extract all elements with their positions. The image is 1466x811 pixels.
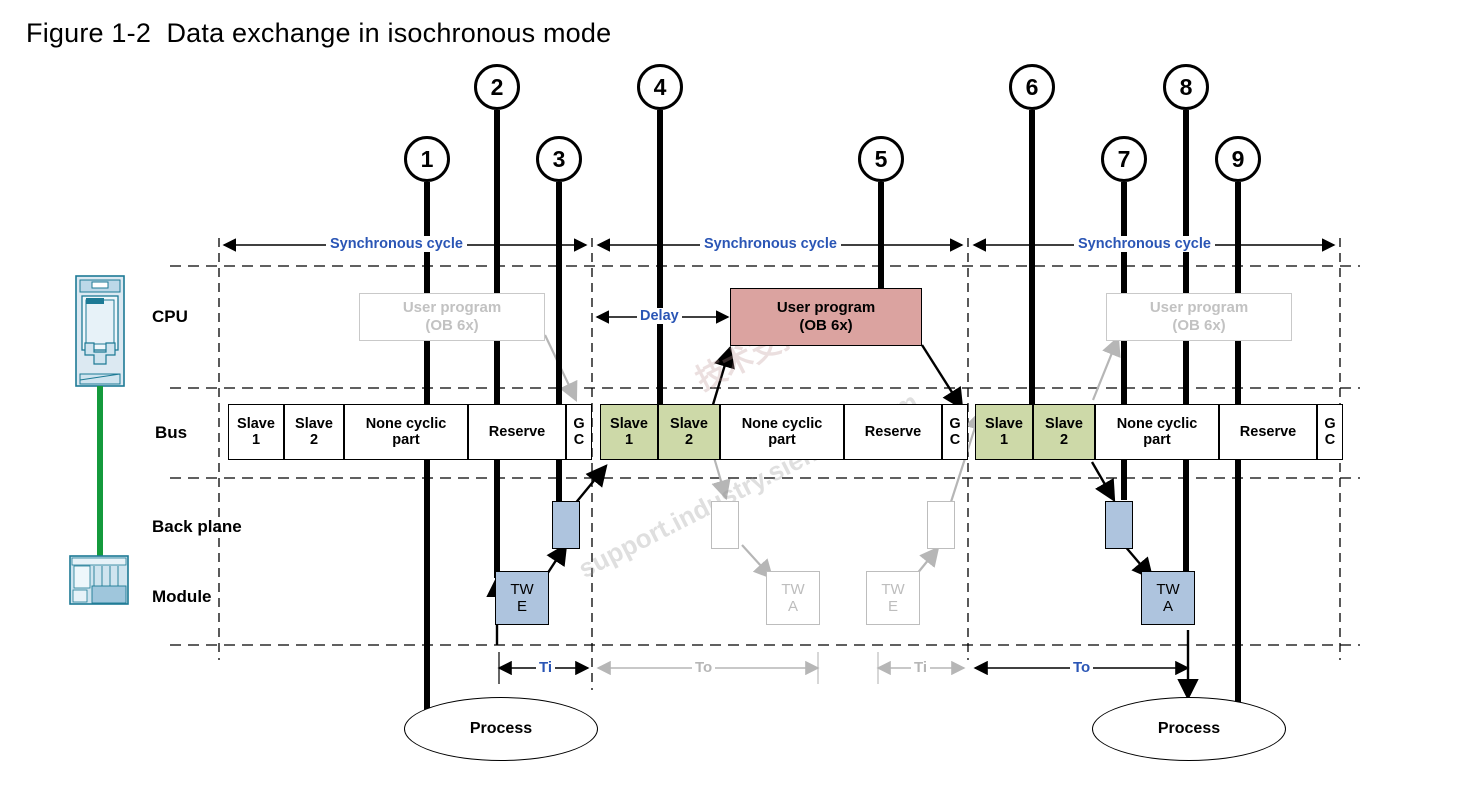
- module-box-3: TW E: [866, 571, 920, 625]
- callout-4[interactable]: 4: [637, 64, 683, 110]
- callout-8[interactable]: 8: [1163, 64, 1209, 110]
- bus-cell: Reserve: [468, 404, 566, 460]
- callout-2[interactable]: 2: [474, 64, 520, 110]
- time-label-ti-2: Ti: [911, 659, 930, 676]
- backplane-box-4: [1105, 501, 1133, 549]
- bus-cell: Slave 1: [975, 404, 1033, 460]
- bus-cell: Slave 1: [600, 404, 658, 460]
- cycle-label-1: Synchronous cycle: [326, 236, 467, 252]
- cpu-program-box-1: User program (OB 6x): [359, 293, 545, 341]
- bus-cell: Reserve: [1219, 404, 1317, 460]
- bus-cell: G C: [942, 404, 968, 460]
- bus-cell: G C: [566, 404, 592, 460]
- time-label-to-1: To: [692, 659, 715, 676]
- time-label-to-2: To: [1070, 659, 1093, 676]
- backplane-box-2: [711, 501, 739, 549]
- cycle-label-2: Synchronous cycle: [700, 236, 841, 252]
- module-box-4: TW A: [1141, 571, 1195, 625]
- module-box-2: TW A: [766, 571, 820, 625]
- cpu-program-box-3: User program (OB 6x): [1106, 293, 1292, 341]
- time-label-ti-1: Ti: [536, 659, 555, 676]
- process-node-right: Process: [1092, 697, 1286, 761]
- module-box-1: TW E: [495, 571, 549, 625]
- row-label-bus: Bus: [155, 423, 187, 443]
- backplane-box-3: [927, 501, 955, 549]
- bus-cell: None cyclic part: [344, 404, 468, 460]
- process-node-left: Process: [404, 697, 598, 761]
- delay-label: Delay: [637, 308, 682, 324]
- cpu-program-box-2: User program (OB 6x): [730, 288, 922, 346]
- row-label-back-plane: Back plane: [152, 517, 242, 537]
- callout-5[interactable]: 5: [858, 136, 904, 182]
- bus-cell: Slave 2: [658, 404, 720, 460]
- callout-9[interactable]: 9: [1215, 136, 1261, 182]
- callout-6[interactable]: 6: [1009, 64, 1055, 110]
- bus-cell: Reserve: [844, 404, 942, 460]
- bus-cell: Slave 1: [228, 404, 284, 460]
- row-label-module: Module: [152, 587, 212, 607]
- callout-7[interactable]: 7: [1101, 136, 1147, 182]
- bus-cell: None cyclic part: [720, 404, 844, 460]
- cycle-label-3: Synchronous cycle: [1074, 236, 1215, 252]
- cpu-device-icon: [76, 276, 124, 386]
- io-module-icon: [70, 556, 128, 604]
- bus-cell: G C: [1317, 404, 1343, 460]
- bus-cell: Slave 2: [1033, 404, 1095, 460]
- callout-3[interactable]: 3: [536, 136, 582, 182]
- backplane-box-1: [552, 501, 580, 549]
- row-label-cpu: CPU: [152, 307, 188, 327]
- bus-cell: Slave 2: [284, 404, 344, 460]
- callout-1[interactable]: 1: [404, 136, 450, 182]
- bus-cell: None cyclic part: [1095, 404, 1219, 460]
